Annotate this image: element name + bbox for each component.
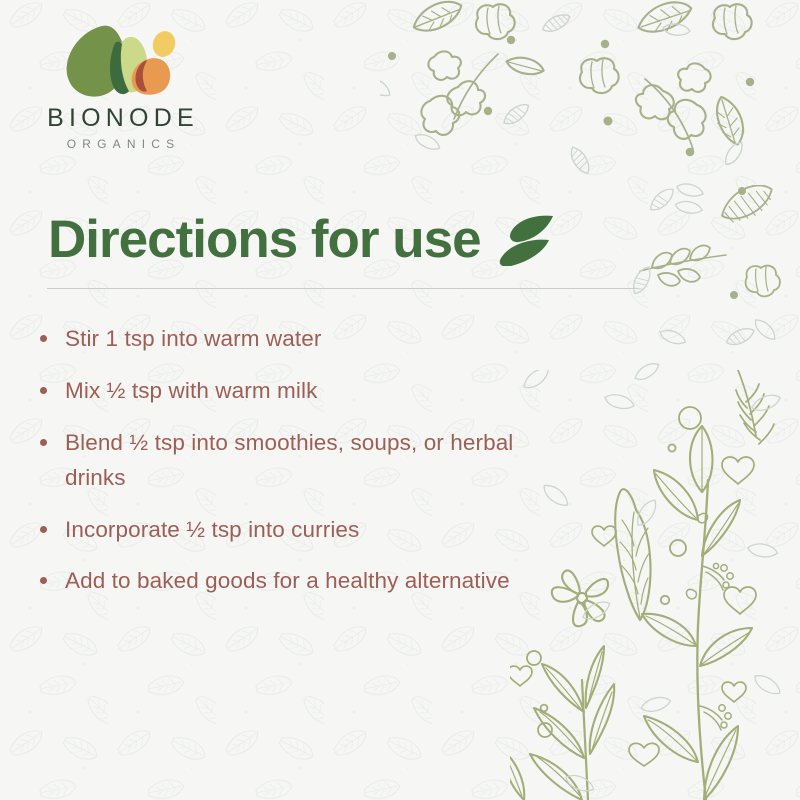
- list-item-text: Stir 1 tsp into warm water: [65, 322, 321, 357]
- leaf-cluster-logo-icon: [58, 22, 186, 102]
- list-item-text: Mix ½ tsp with warm milk: [65, 374, 317, 409]
- list-item: Stir 1 tsp into warm water: [40, 322, 560, 357]
- bullet-dot-icon: [40, 335, 47, 342]
- brand-logo: BIONODE ORGANICS: [36, 22, 206, 150]
- list-item-text: Incorporate ½ tsp into curries: [65, 513, 359, 548]
- brand-wordmark: BIONODE: [36, 106, 206, 131]
- page-title-row: Directions for use: [48, 212, 555, 266]
- branch-leaves-icon: [624, 185, 800, 415]
- list-item-text: Blend ½ tsp into smoothies, soups, or he…: [65, 426, 560, 496]
- brand-tagline: ORGANICS: [36, 138, 206, 150]
- list-item-text: Add to baked goods for a healthy alterna…: [65, 564, 510, 599]
- title-divider: [47, 288, 637, 289]
- bullet-dot-icon: [40, 439, 47, 446]
- bullet-dot-icon: [40, 526, 47, 533]
- two-leaf-icon: [491, 214, 555, 266]
- scattered-leaves-berries-icon: [380, 0, 800, 204]
- list-item: Add to baked goods for a healthy alterna…: [40, 564, 560, 599]
- directions-list: Stir 1 tsp into warm water Mix ½ tsp wit…: [40, 322, 560, 616]
- poster-card: BIONODE ORGANICS Directions for use Stir…: [0, 0, 800, 800]
- bullet-dot-icon: [40, 577, 47, 584]
- list-item: Incorporate ½ tsp into curries: [40, 513, 560, 548]
- bullet-dot-icon: [40, 387, 47, 394]
- page-title: Directions for use: [48, 213, 481, 266]
- list-item: Mix ½ tsp with warm milk: [40, 374, 560, 409]
- list-item: Blend ½ tsp into smoothies, soups, or he…: [40, 426, 560, 496]
